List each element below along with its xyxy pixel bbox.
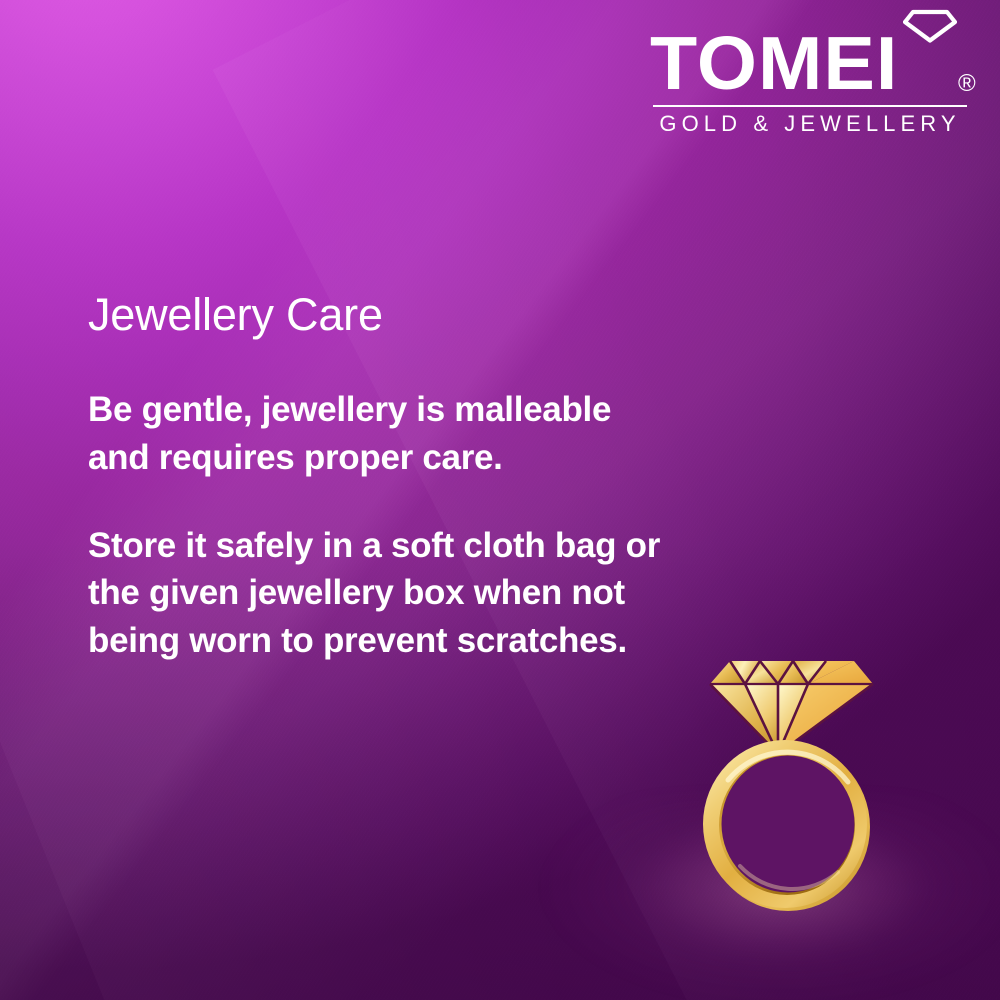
copy-block: Jewellery Care Be gentle, jewellery is m…: [88, 290, 668, 664]
diamond-ring-illustration: [688, 636, 898, 916]
registered-trademark-symbol: ®: [958, 72, 976, 96]
gold-band: [703, 740, 870, 911]
care-paragraph-2: Store it safely in a soft cloth bag or t…: [88, 522, 668, 665]
brand-tagline: GOLD & JEWELLERY: [650, 111, 970, 137]
logo-divider-rule: [653, 105, 967, 107]
page-title: Jewellery Care: [88, 290, 668, 340]
care-paragraph-1: Be gentle, jewellery is malleable and re…: [88, 386, 668, 481]
diamond-gem: [710, 661, 873, 754]
poster-canvas: TOMEI ® GOLD & JEWELLERY Jewellery Care …: [0, 0, 1000, 1000]
brand-logo: TOMEI ® GOLD & JEWELLERY: [650, 6, 980, 92]
logo-wordmark-row: TOMEI ®: [650, 6, 980, 92]
diamond-outline-icon: [903, 9, 957, 43]
brand-wordmark: TOMEI: [650, 28, 898, 98]
